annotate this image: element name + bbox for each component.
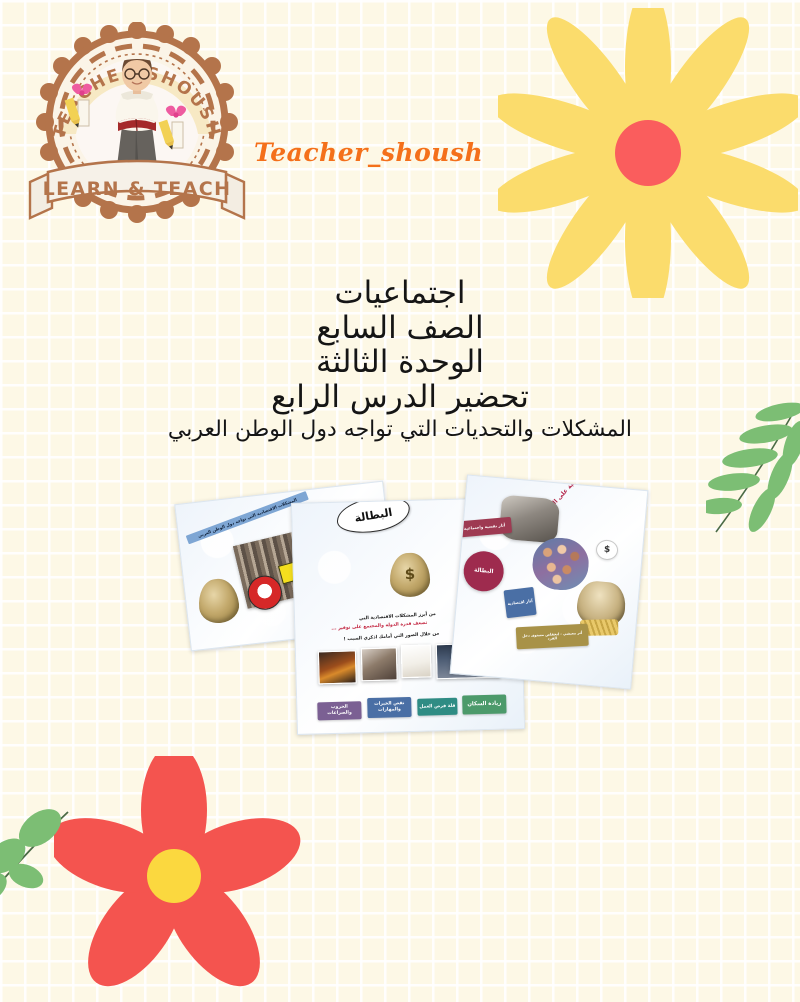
title-subject: اجتماعيات bbox=[0, 276, 800, 311]
coral-flower-center bbox=[147, 849, 201, 903]
title-subtitle: المشكلات والتحديات التي تواجه دول الوطن … bbox=[0, 417, 800, 443]
title-lesson: تحضير الدرس الرابع bbox=[0, 380, 800, 415]
brand-handle: Teacher_shoush bbox=[254, 138, 483, 167]
chip-few-jobs[interactable]: قلة فرص العمل bbox=[417, 698, 457, 716]
leaf-sprig-left bbox=[0, 784, 92, 904]
title-grade: الصف السابع bbox=[0, 311, 800, 346]
stress-photo[interactable] bbox=[361, 647, 398, 681]
daisy-center bbox=[615, 120, 681, 186]
card-income-effects[interactable]: أثر معيشي - انخفاض مستوى دخل الفرد bbox=[516, 624, 589, 650]
worker-photo[interactable] bbox=[401, 644, 432, 678]
poster-page: TEACHER SHOUSH bbox=[0, 0, 800, 1002]
lesson-title-block: اجتماعيات الصف السابع الوحدة الثالثة تحض… bbox=[0, 276, 800, 443]
card-economic-effects[interactable]: آثار اقتصادية bbox=[504, 587, 537, 618]
chip-population-growth[interactable]: زيادة السكان bbox=[462, 694, 506, 714]
teacher-shoush-logo: TEACHER SHOUSH bbox=[22, 22, 252, 237]
slides-collage: المشكلات الاقتصادية التي تواجه دول الوطن… bbox=[176, 470, 636, 750]
title-unit: الوحدة الثالثة bbox=[0, 345, 800, 380]
chip-wars-conflicts[interactable]: الحروب والصراعات bbox=[317, 701, 361, 720]
war-fire-photo[interactable] bbox=[318, 650, 357, 684]
yellow-daisy-flower bbox=[498, 8, 798, 298]
logo-ribbon-text: LEARN & TEACH bbox=[43, 178, 232, 200]
slide-unemployment-effects[interactable]: الآثار المترتبة على البطالة $ البطالة آث… bbox=[450, 474, 649, 689]
chip-lack-of-skills[interactable]: نقص الخبرات والمهارات bbox=[367, 697, 412, 718]
